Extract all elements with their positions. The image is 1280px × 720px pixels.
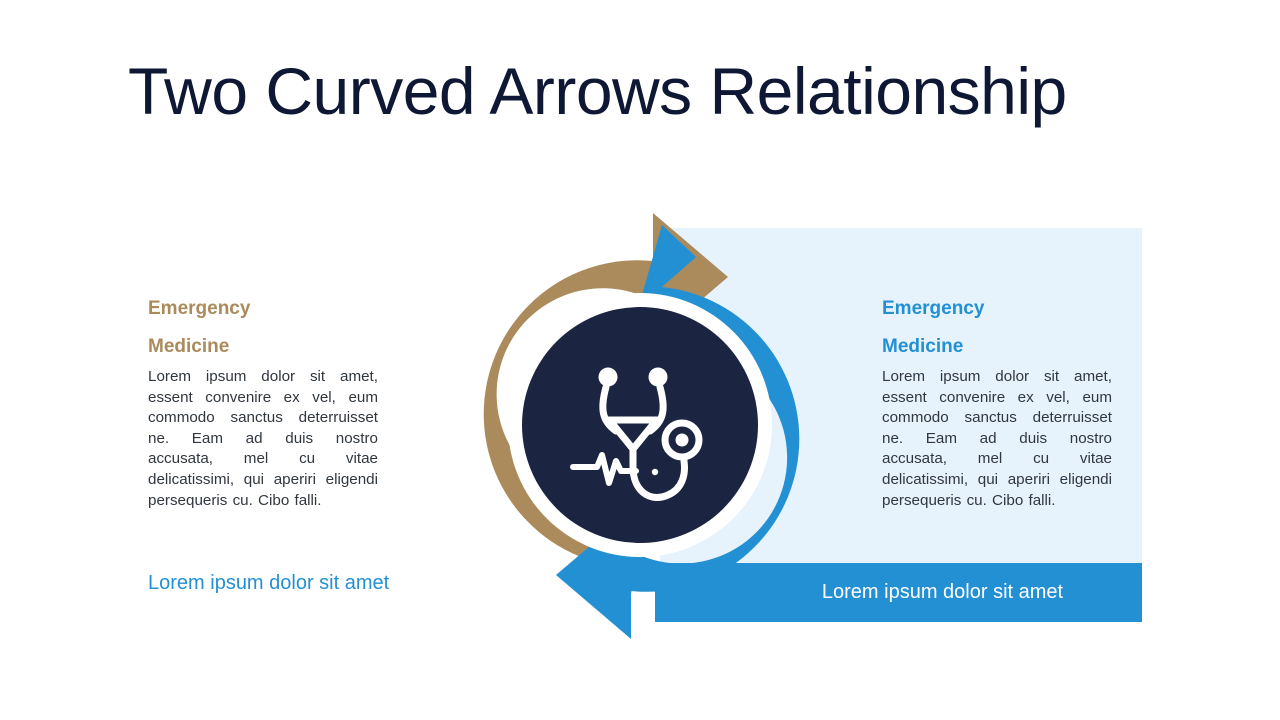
page-title: Two Curved Arrows Relationship: [128, 58, 1168, 124]
right-body-text: Lorem ipsum dolor sit amet, essent conve…: [882, 367, 1112, 511]
slide-canvas: Two Curved Arrows Relationship Lorem ips…: [0, 0, 1280, 720]
right-heading-line1: Emergency: [882, 290, 1112, 327]
two-curved-arrows-diagram: [410, 195, 880, 655]
right-heading-line2: Medicine: [882, 328, 1112, 365]
left-heading-line2: Medicine: [148, 328, 378, 365]
center-circle: [522, 307, 758, 543]
left-content-column: Emergency Medicine Lorem ipsum dolor sit…: [148, 290, 378, 511]
left-heading-line1: Emergency: [148, 290, 378, 327]
right-content-column: Emergency Medicine Lorem ipsum dolor sit…: [882, 290, 1112, 511]
left-body-text: Lorem ipsum dolor sit amet, essent conve…: [148, 367, 378, 511]
